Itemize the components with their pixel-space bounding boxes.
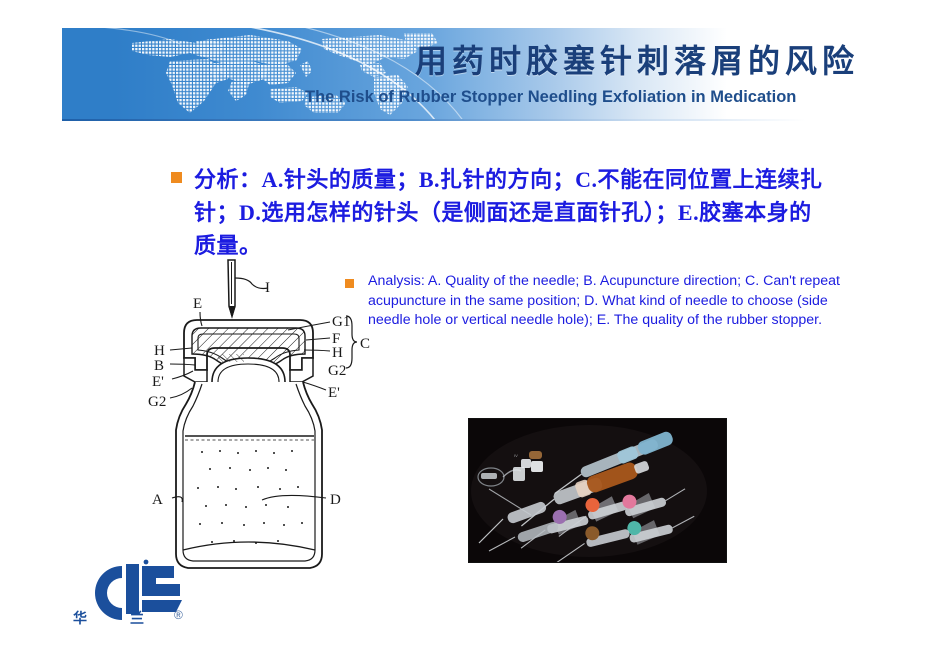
header-bottom-rule [62,119,937,121]
diagram-label-needle: I [265,280,270,296]
diagram-label-body-a: A [152,492,163,508]
diagram-label-cap-top-left: E [193,296,202,312]
chinese-analysis-paragraph: 分析：A.针头的质量；B.扎针的方向；C.不能在同位置上连续扎针；D.选用怎样的… [194,163,824,262]
logo-text-hua: 华 [73,608,87,628]
registered-trademark-icon: ® [174,608,183,622]
needle-shape [228,260,235,316]
diagram-label-right-g1: G1 [332,314,350,330]
svg-text:IV: IV [514,453,518,458]
iv-catheter-needles-photograph: IV [468,418,727,563]
hualan-logo-mark [70,558,245,636]
hualan-logo: 华 兰 ® [70,558,245,636]
diagram-label-left-h: H [154,343,165,359]
diagram-label-right-h: H [332,345,343,361]
english-analysis-paragraph: Analysis: A. Quality of the needle; B. A… [368,272,858,331]
page-title-chinese: 用药时胶塞针刺落屑的风险 [415,36,925,82]
diagram-label-brace-c: C [360,336,370,352]
vial-outer-wall [176,382,322,568]
diagram-label-body-d: D [330,492,341,508]
logo-text-lan: 兰 [130,608,144,628]
diagram-label-right-e-prime: E' [328,385,340,401]
diagram-label-left-g2: G2 [148,394,166,410]
slide-canvas: 用药时胶塞针刺落屑的风险 The Risk of Rubber Stopper … [0,0,937,662]
bullet-square-icon-chinese [171,172,182,183]
diagram-label-left-b: B [154,358,164,374]
page-subtitle-english: The Risk of Rubber Stopper Needling Exfo… [305,88,925,107]
diagram-label-left-e-prime: E' [152,374,164,390]
vial-rubber-stopper-diagram: I E H B E' G2 G1 F H G2 E' C A D [140,258,380,588]
diagram-label-right-g2: G2 [328,363,346,379]
